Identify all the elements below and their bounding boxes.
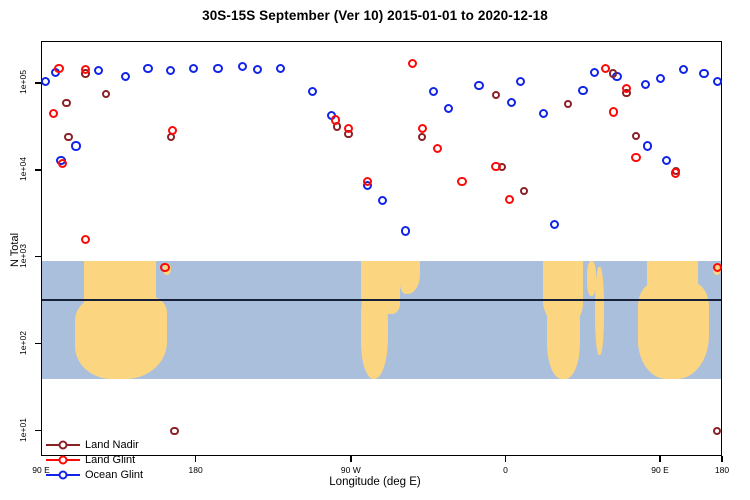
data-point [62,99,70,107]
data-point [641,80,650,89]
data-point [160,263,169,272]
data-point [433,144,442,153]
legend-marker-land-nadir [46,438,80,451]
x-tick-mark [659,456,660,462]
data-point [505,195,514,204]
data-point [643,141,652,150]
figure-canvas: 30S-15S September (Ver 10) 2015-01-01 to… [0,0,750,500]
legend-label-ocean-glint: Ocean Glint [85,469,143,481]
data-point [564,100,572,108]
landmass-shape [595,267,604,355]
data-point [54,64,63,73]
data-point [71,141,80,150]
landmass-shape [547,299,580,379]
latitude-reference-line [42,299,721,301]
landmass-shape [658,261,678,282]
legend: Land Nadir Land Glint Ocean Glint [44,435,147,484]
x-tick-label: 0 [483,465,527,475]
x-tick-mark [505,456,506,462]
data-point [189,64,198,73]
data-point [656,74,665,83]
data-point [609,107,618,116]
data-point [457,177,466,186]
landmass-shape [109,261,133,287]
landmass-shape [638,282,710,378]
data-point [507,98,516,107]
data-point [622,84,631,93]
data-point [550,220,559,229]
data-point [671,168,680,177]
data-point [401,226,410,235]
data-point [276,64,285,73]
x-tick-label: 180 [174,465,218,475]
data-point [474,81,483,90]
legend-circle [59,470,68,479]
x-tick-label: 90 E [638,465,682,475]
data-point [213,64,222,73]
data-point [578,86,587,95]
landmass-shape [361,296,388,378]
data-point [713,263,722,272]
data-point [713,77,722,86]
data-point [170,427,178,435]
chart-title: 30S-15S September (Ver 10) 2015-01-01 to… [0,8,750,23]
data-point [590,68,599,77]
data-point [363,177,372,186]
map-overlay [42,42,721,455]
legend-label-land-glint: Land Glint [85,454,135,466]
x-tick-mark [721,456,722,462]
x-tick-mark [195,456,196,462]
data-point [168,126,177,135]
data-point [81,235,90,244]
data-point [378,196,387,205]
data-point [631,153,640,162]
x-tick-label: 180 [700,465,744,475]
legend-marker-ocean-glint [46,468,80,481]
legend-circle [59,440,68,449]
data-point [632,132,640,140]
data-point [81,65,90,74]
x-tick-mark [350,456,351,462]
data-point [539,109,548,118]
data-point [601,64,610,73]
data-point [662,156,671,165]
data-point [679,65,688,74]
legend-label-land-nadir: Land Nadir [85,439,139,451]
data-point [491,162,500,171]
data-point [143,64,152,73]
plot-area [41,41,722,456]
data-point [444,104,453,113]
landmass-shape [587,261,597,296]
x-tick-label: 90 W [329,465,373,475]
legend-item-land-glint[interactable]: Land Glint [46,452,143,467]
legend-marker-land-glint [46,453,80,466]
legend-item-ocean-glint[interactable]: Ocean Glint [46,467,143,482]
landmass-shape [75,296,167,378]
data-point [609,69,617,77]
data-point [699,69,708,78]
data-point [121,72,130,81]
data-point [49,109,58,118]
data-point [331,115,340,124]
legend-item-land-nadir[interactable]: Land Nadir [46,437,143,452]
data-point [64,133,72,141]
legend-circle [59,455,68,464]
